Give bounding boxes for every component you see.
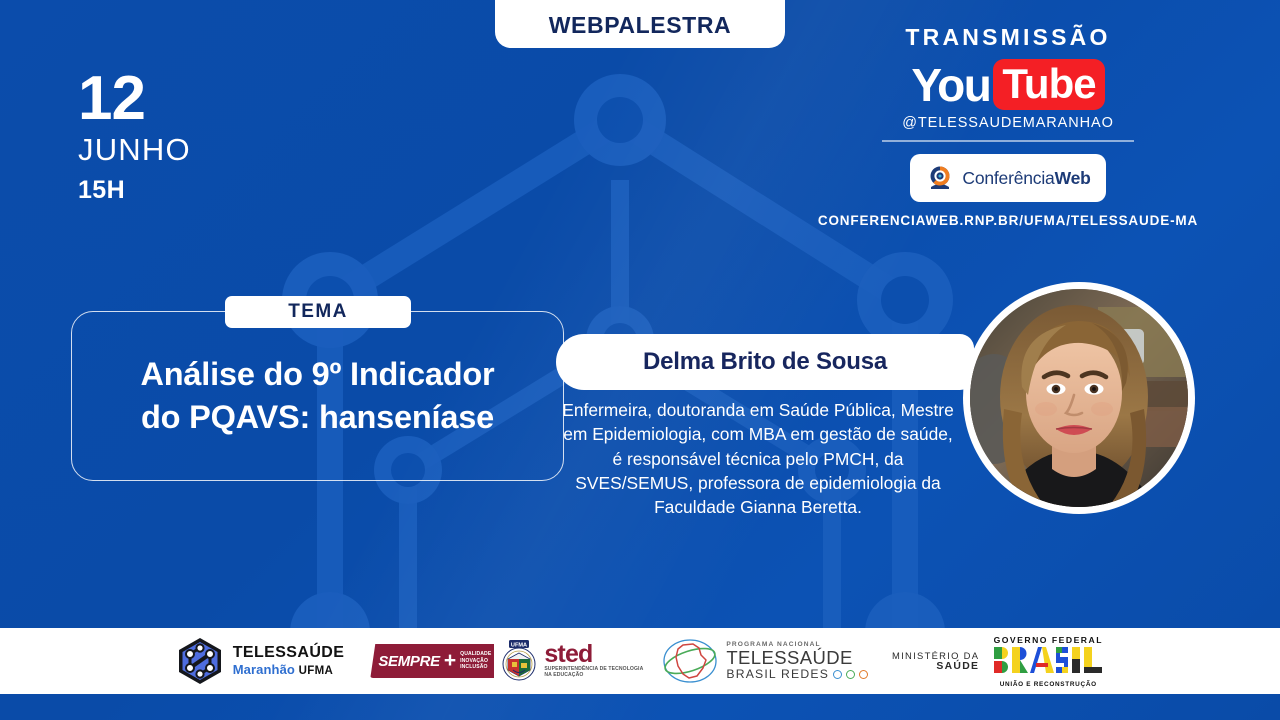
tbr-line3-text: BRASIL REDES	[726, 667, 829, 681]
ministerio-line2: SAÚDE	[892, 661, 979, 672]
event-hour: 15H	[78, 176, 191, 205]
conferenciaweb-name-bold: Web	[1055, 168, 1091, 188]
speaker-bio: Enfermeira, doutoranda em Saúde Pública,…	[556, 398, 960, 520]
youtube-tube-text: Tube	[1002, 60, 1095, 107]
sempre-sub3: INCLUSÃO	[460, 664, 491, 671]
logo-sempre-mais-sted: SEMPRE + QUALIDADE INOVAÇÃO INCLUSÃO UFM…	[370, 637, 643, 685]
webpalestra-badge: WEBPALESTRA	[495, 0, 785, 48]
telessaude-subtitle: Maranhão UFMA	[233, 662, 345, 677]
logo-ministerio-da-saude: MINISTÉRIO DA SAÚDE	[892, 650, 979, 672]
divider	[882, 140, 1134, 142]
youtube-handle[interactable]: @TELESSAUDEMARANHAO	[808, 115, 1208, 131]
logo-governo: MINISTÉRIO DA SAÚDE GOVERNO FEDERAL	[892, 635, 1104, 688]
event-date-block: 12 JUNHO 15H	[78, 70, 191, 205]
sempre-plus: +	[444, 654, 456, 669]
sempre-subtitle: QUALIDADE INOVAÇÃO INCLUSÃO	[460, 651, 491, 671]
logo-telessaude-maranhao: TELESSAÚDE Maranhão UFMA	[176, 636, 345, 686]
tbr-text: PROGRAMA NACIONAL TELESSAÚDE BRASIL REDE…	[726, 641, 868, 681]
sempre-banner: SEMPRE + QUALIDADE INOVAÇÃO INCLUSÃO	[370, 644, 494, 678]
speaker-photo	[970, 289, 1188, 507]
tbr-line3: BRASIL REDES	[726, 667, 868, 681]
webcam-icon	[925, 163, 955, 193]
hexagon-network-icon	[176, 636, 224, 686]
broadcast-url[interactable]: CONFERENCIAWEB.RNP.BR/UFMA/TELESSAUDE-MA	[808, 213, 1208, 228]
youtube-icon: Tube	[993, 59, 1104, 110]
topic-badge-label: TEMA	[288, 301, 347, 323]
governo-federal-line1: GOVERNO FEDERAL	[992, 635, 1104, 645]
telessaude-university: UFMA	[299, 665, 333, 677]
brazil-map-icon	[661, 636, 719, 686]
tbr-dot-orange	[859, 670, 868, 679]
sted-word: sted	[544, 643, 643, 666]
poster-canvas: WEBPALESTRA 12 JUNHO 15H TRANSMISSÃO You…	[0, 0, 1280, 720]
ministerio-line1: MINISTÉRIO DA	[892, 650, 979, 661]
logo-telessaude-brasil-redes: PROGRAMA NACIONAL TELESSAÚDE BRASIL REDE…	[661, 636, 868, 686]
sempre-word: SEMPRE	[378, 653, 440, 670]
speaker-name: Delma Brito de Sousa	[643, 348, 887, 376]
tbr-line2: TELESSAÚDE	[726, 648, 868, 667]
broadcast-title: TRANSMISSÃO	[808, 24, 1208, 51]
speaker-avatar	[963, 282, 1195, 514]
youtube-you-text: You	[911, 62, 990, 108]
conferenciaweb-label: ConferênciaWeb	[962, 168, 1090, 189]
topic-title-line2: do PQAVS: hanseníase	[140, 396, 494, 439]
footer-logo-bar: TELESSAÚDE Maranhão UFMA SEMPRE + QUALID…	[0, 628, 1280, 694]
governo-federal-line3: UNIÃO E RECONSTRUÇÃO	[992, 681, 1104, 688]
broadcast-block: TRANSMISSÃO You Tube @TELESSAUDEMARANHAO…	[808, 24, 1208, 228]
topic-badge: TEMA	[225, 296, 411, 328]
topic-title: Análise do 9º Indicador do PQAVS: hansen…	[140, 353, 494, 439]
conferenciaweb-logo[interactable]: ConferênciaWeb	[910, 154, 1106, 202]
sted-text: sted SUPERINTENDÊNCIA DE TECNOLOGIA NA E…	[544, 643, 643, 678]
sted-sub2: NA EDUCAÇÃO	[544, 672, 643, 678]
telessaude-state: Maranhão	[233, 662, 295, 677]
logo-telessaude-maranhao-text: TELESSAÚDE Maranhão UFMA	[233, 645, 345, 677]
brasil-wordmark-icon	[992, 645, 1104, 675]
conferenciaweb-name-light: Conferência	[962, 168, 1054, 188]
webpalestra-label: WEBPALESTRA	[549, 12, 732, 39]
topic-title-line1: Análise do 9º Indicador	[140, 353, 494, 396]
ufma-crest-icon: UFMA	[498, 637, 540, 685]
avatar	[970, 289, 1188, 507]
tbr-dot-blue	[833, 670, 842, 679]
speaker-name-pill: Delma Brito de Sousa	[556, 334, 974, 390]
logo-governo-federal: GOVERNO FEDERAL	[992, 635, 1104, 688]
event-day: 12	[78, 70, 191, 129]
tbr-dot-green	[846, 670, 855, 679]
topic-card: Análise do 9º Indicador do PQAVS: hansen…	[71, 311, 564, 481]
telessaude-title: TELESSAÚDE	[233, 645, 345, 662]
sempre-sub1: QUALIDADE	[460, 651, 491, 658]
event-month: JUNHO	[78, 131, 191, 170]
youtube-logo[interactable]: You Tube	[808, 59, 1208, 110]
